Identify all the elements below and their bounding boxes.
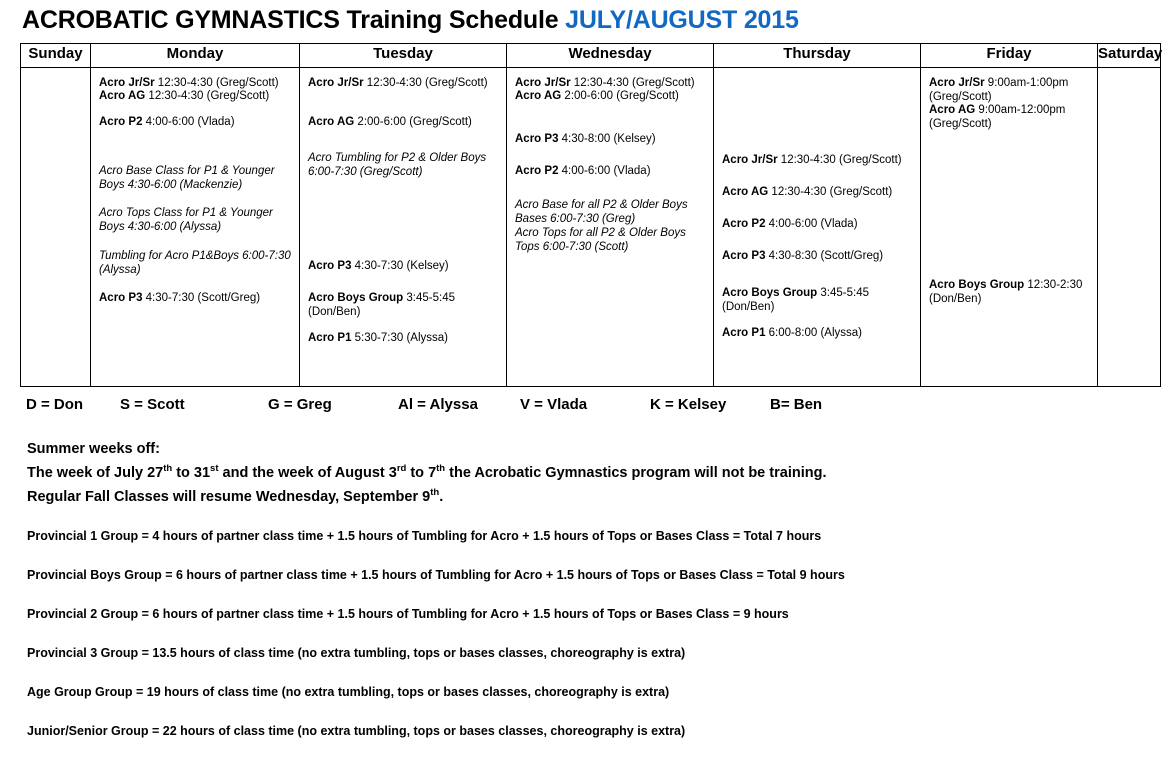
schedule-header-row: Sunday Monday Tuesday Wednesday Thursday… xyxy=(21,44,1161,68)
coach-legend-item-don: D = Don xyxy=(26,396,83,413)
notes-weeks-off-line: The week of July 27th to 31st and the we… xyxy=(27,459,1169,483)
schedule-entry: Acro Jr/Sr 12:30-4:30 (Greg/Scott) xyxy=(722,154,916,168)
column-header-friday: Friday xyxy=(921,44,1098,68)
notes-line2-sup1: th xyxy=(163,463,172,474)
group-definitions: Provincial 1 Group = 4 hours of partner … xyxy=(27,529,1169,738)
notes-line2-e: the Acrobatic Gymnastics program will no… xyxy=(445,465,826,481)
coach-legend-item-greg: G = Greg xyxy=(268,396,332,413)
schedule-entry: Acro Jr/Sr 9:00am-1:00pm (Greg/Scott) xyxy=(929,77,1093,104)
column-header-thursday: Thursday xyxy=(714,44,921,68)
schedule-entry: Acro AG 2:00-6:00 (Greg/Scott) xyxy=(515,90,709,104)
schedule-entry: Acro AG 12:30-4:30 (Greg/Scott) xyxy=(722,186,916,200)
coach-legend: D = DonS = ScottG = GregAl = AlyssaV = V… xyxy=(0,396,1169,418)
group-definition-line: Provincial 3 Group = 13.5 hours of class… xyxy=(27,646,1169,660)
schedule-entry: Acro AG 9:00am-12:00pm (Greg/Scott) xyxy=(929,104,1093,131)
coach-legend-item-vlada: V = Vlada xyxy=(520,396,587,413)
schedule-entry: Acro P1 6:00-8:00 (Alyssa) xyxy=(722,327,916,341)
group-definition-line: Provincial Boys Group = 6 hours of partn… xyxy=(27,568,1169,582)
notes-fall-resume-line: Regular Fall Classes will resume Wednesd… xyxy=(27,483,1169,507)
day-cell-monday: Acro Jr/Sr 12:30-4:30 (Greg/Scott)Acro A… xyxy=(91,68,300,387)
schedule-entry: Acro P2 4:00-6:00 (Vlada) xyxy=(515,165,709,179)
notes-line2-b: to 31 xyxy=(172,465,210,481)
weekly-schedule-table: Sunday Monday Tuesday Wednesday Thursday… xyxy=(20,43,1161,387)
schedule-entry: Acro Jr/Sr 12:30-4:30 (Greg/Scott) xyxy=(308,77,502,91)
notes-line2-sup2: st xyxy=(210,463,218,474)
notes-line3-a: Regular Fall Classes will resume Wednesd… xyxy=(27,489,430,505)
day-cell-tuesday: Acro Jr/Sr 12:30-4:30 (Greg/Scott)Acro A… xyxy=(300,68,507,387)
column-header-wednesday: Wednesday xyxy=(507,44,714,68)
schedule-entry: Acro Tops Class for P1 & Younger Boys 4:… xyxy=(99,207,295,234)
coach-legend-item-scott: S = Scott xyxy=(120,396,185,413)
coach-legend-item-alyssa: Al = Alyssa xyxy=(398,396,478,413)
schedule-entry: Acro Base for all P2 & Older Boys Bases … xyxy=(515,199,709,226)
notes-line2-sup4: th xyxy=(436,463,445,474)
coach-legend-item-ben: B= Ben xyxy=(770,396,822,413)
day-cell-friday: Acro Jr/Sr 9:00am-1:00pm (Greg/Scott)Acr… xyxy=(921,68,1098,387)
schedule-entry: Acro Jr/Sr 12:30-4:30 (Greg/Scott) xyxy=(99,77,295,91)
notes-line2-c: and the week of August 3 xyxy=(219,465,397,481)
schedule-entry: Acro P2 4:00-6:00 (Vlada) xyxy=(722,218,916,232)
notes-line2-sup3: rd xyxy=(397,463,407,474)
day-cell-sunday xyxy=(21,68,91,387)
column-header-sunday: Sunday xyxy=(21,44,91,68)
group-definition-line: Junior/Senior Group = 22 hours of class … xyxy=(27,724,1169,738)
schedule-entry: Acro AG 12:30-4:30 (Greg/Scott) xyxy=(99,90,295,104)
day-cell-saturday xyxy=(1098,68,1161,387)
page-title-accent: JULY/AUGUST 2015 xyxy=(565,6,798,34)
page-title: ACROBATIC GYMNASTICS Training Schedule J… xyxy=(0,0,1169,39)
notes-heading: Summer weeks off: xyxy=(27,440,1169,459)
schedule-entry: Acro Tops for all P2 & Older Boys Tops 6… xyxy=(515,227,709,254)
day-cell-wednesday: Acro Jr/Sr 12:30-4:30 (Greg/Scott)Acro A… xyxy=(507,68,714,387)
page-title-main: ACROBATIC GYMNASTICS Training Schedule xyxy=(22,6,565,34)
summer-notes: Summer weeks off: The week of July 27th … xyxy=(27,440,1169,507)
schedule-entry: Acro P2 4:00-6:00 (Vlada) xyxy=(99,116,295,130)
coach-legend-item-kelsey: K = Kelsey xyxy=(650,396,726,413)
schedule-entry: Acro Boys Group 3:45-5:45 (Don/Ben) xyxy=(722,287,916,314)
notes-line3-b: . xyxy=(439,489,443,505)
schedule-entry: Acro Base Class for P1 & Younger Boys 4:… xyxy=(99,165,295,192)
column-header-monday: Monday xyxy=(91,44,300,68)
group-definition-line: Age Group Group = 19 hours of class time… xyxy=(27,685,1169,699)
schedule-entry: Acro Boys Group 12:30-2:30 (Don/Ben) xyxy=(929,279,1093,306)
notes-line2-d: to 7 xyxy=(406,465,436,481)
schedule-entry: Tumbling for Acro P1&Boys 6:00-7:30 (Aly… xyxy=(99,250,295,277)
notes-line2-a: The week of July 27 xyxy=(27,465,163,481)
column-header-saturday: Saturday xyxy=(1098,44,1161,68)
group-definition-line: Provincial 1 Group = 4 hours of partner … xyxy=(27,529,1169,543)
schedule-entry: Acro P3 4:30-8:00 (Kelsey) xyxy=(515,133,709,147)
day-cell-thursday: Acro Jr/Sr 12:30-4:30 (Greg/Scott)Acro A… xyxy=(714,68,921,387)
schedule-entry: Acro P3 4:30-7:30 (Kelsey) xyxy=(308,260,502,274)
schedule-entry: Acro Boys Group 3:45-5:45 (Don/Ben) xyxy=(308,292,502,319)
group-definition-line: Provincial 2 Group = 6 hours of partner … xyxy=(27,607,1169,621)
schedule-entry: Acro AG 2:00-6:00 (Greg/Scott) xyxy=(308,116,502,130)
schedule-entry: Acro Tumbling for P2 & Older Boys 6:00-7… xyxy=(308,152,502,179)
column-header-tuesday: Tuesday xyxy=(300,44,507,68)
schedule-body-row: Acro Jr/Sr 12:30-4:30 (Greg/Scott)Acro A… xyxy=(21,68,1161,387)
schedule-table-wrapper: Sunday Monday Tuesday Wednesday Thursday… xyxy=(20,43,1160,387)
schedule-entry: Acro Jr/Sr 12:30-4:30 (Greg/Scott) xyxy=(515,77,709,91)
schedule-entry: Acro P3 4:30-8:30 (Scott/Greg) xyxy=(722,250,916,264)
notes-line3-sup: th xyxy=(430,487,439,498)
schedule-entry: Acro P3 4:30-7:30 (Scott/Greg) xyxy=(99,292,295,306)
schedule-entry: Acro P1 5:30-7:30 (Alyssa) xyxy=(308,332,502,346)
